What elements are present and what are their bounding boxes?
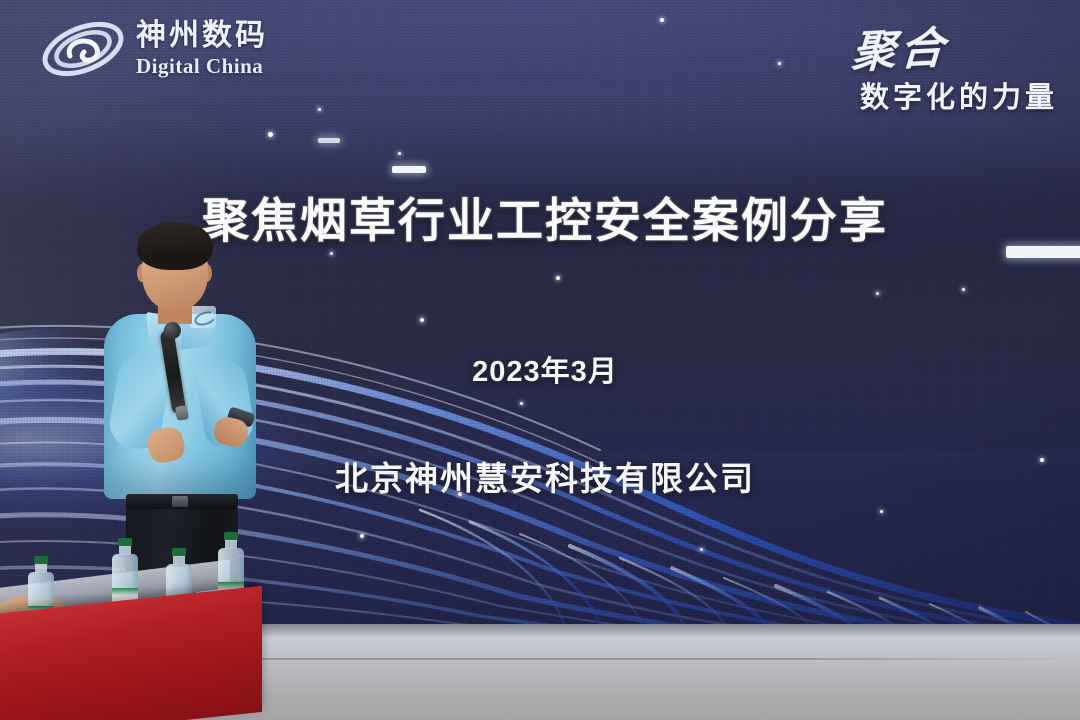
particle-dot — [962, 288, 965, 291]
shirt-logo-icon — [190, 306, 216, 328]
logo-name-cn: 神州数码 — [136, 21, 268, 51]
particle-dot — [556, 276, 560, 280]
brand-tagline: 数字化的力量 — [852, 74, 1058, 116]
conference-stage-photo: 神州数码 Digital China 聚合 数字化的力量 聚焦烟草行业工控安全案… — [0, 0, 1080, 720]
particle-dot — [330, 252, 333, 255]
presenter-belt-buckle — [172, 496, 188, 507]
logo-name-en: Digital China — [136, 56, 268, 77]
particle-dot — [876, 292, 879, 295]
particle-dot — [420, 318, 424, 322]
light-streak — [318, 138, 340, 143]
digital-china-swirl-icon — [40, 18, 126, 80]
particle-dot — [660, 18, 664, 22]
particle-dot — [360, 534, 364, 538]
particle-dot — [700, 548, 703, 551]
event-brand-mark: 聚合 数字化的力量 — [852, 14, 1058, 116]
brand-calligraphy: 聚合 — [850, 12, 950, 81]
digital-china-logo: 神州数码 Digital China — [40, 18, 268, 80]
particle-dot — [398, 152, 401, 155]
particle-dot — [778, 62, 781, 65]
particle-dot — [318, 108, 321, 111]
particle-dot — [268, 132, 273, 137]
particle-dot — [520, 402, 523, 405]
foreground-audience-table — [0, 540, 300, 720]
microphone-base-icon — [175, 405, 189, 421]
particle-dot — [880, 510, 883, 513]
light-streak — [392, 166, 426, 173]
presenter-hair — [137, 222, 213, 270]
